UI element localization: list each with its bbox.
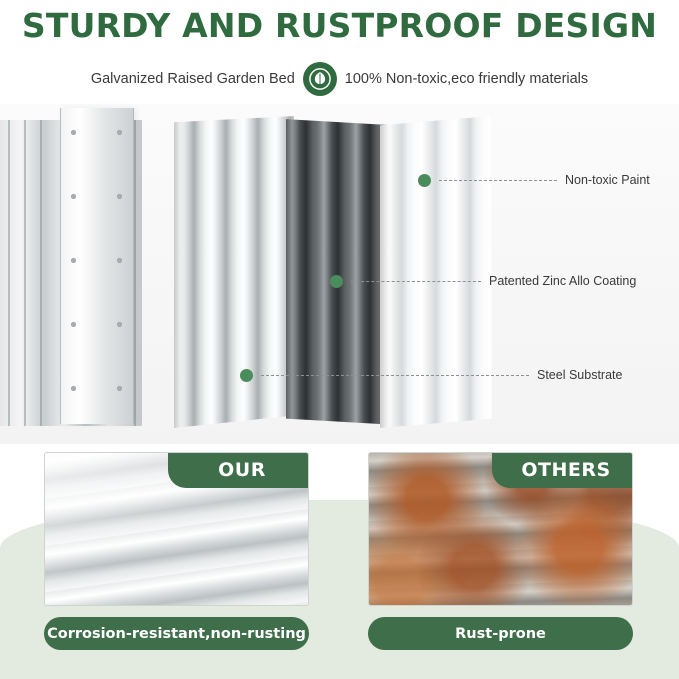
garden-bed-corner-post [60,108,134,424]
our-caption: Corrosion-resistant,non-rusting [44,617,309,650]
callout-leader-line [261,375,529,376]
callout-leader-line [439,180,557,181]
leaf-icon [303,62,337,96]
callout-label: Patented Zinc Allo Coating [489,274,636,288]
page-title: STURDY AND RUSTPROOF DESIGN [0,6,679,45]
callout-dot-icon [330,275,343,288]
subtitle-row: Galvanized Raised Garden Bed 100% Non-to… [0,62,679,96]
product-infographic: STURDY AND RUSTPROOF DESIGN Galvanized R… [0,0,679,679]
others-caption: Rust-prone [368,617,633,650]
callout-leader-line [351,281,481,282]
callout-label: Steel Substrate [537,368,622,382]
callout-dot-icon [240,369,253,382]
callout-non-toxic-paint: Non-toxic Paint [418,173,650,187]
subtitle-right: 100% Non-toxic,eco friendly materials [345,71,588,87]
subtitle-left: Galvanized Raised Garden Bed [91,71,295,87]
our-badge: OUR [168,453,308,488]
others-badge: OTHERS [492,453,632,488]
callout-label: Non-toxic Paint [565,173,650,187]
our-panel-photo: OUR [44,452,309,606]
others-panel-photo: OTHERS [368,452,633,606]
callout-zinc-coating: Patented Zinc Allo Coating [330,274,636,288]
callout-dot-icon [418,174,431,187]
comparison-card-our: OUR Corrosion-resistant,non-rusting [44,452,309,650]
callout-steel-substrate: Steel Substrate [240,368,622,382]
comparison-card-others: OTHERS Rust-prone [368,452,633,650]
